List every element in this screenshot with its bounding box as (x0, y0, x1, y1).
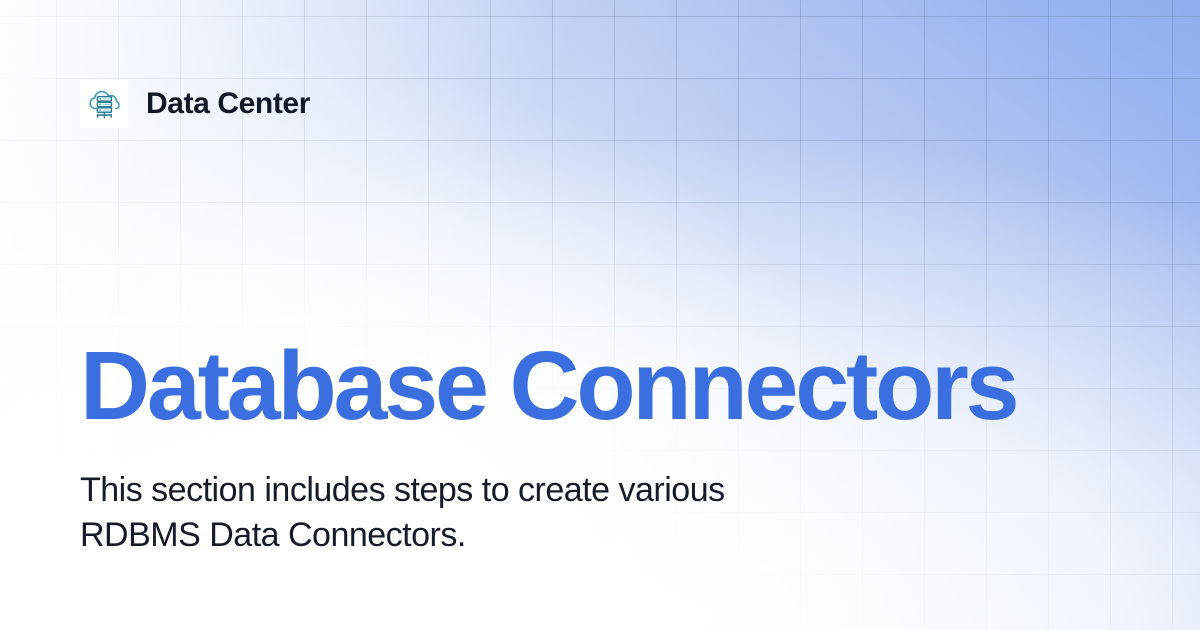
brand-name-label: Data Center (146, 89, 310, 119)
hero-banner: Data Center Database Connectors This sec… (0, 0, 1200, 630)
subtitle-line-1: This section includes steps to create va… (80, 471, 725, 509)
brand-logo-badge (80, 80, 128, 128)
subtitle-line-2: RDBMS Data Connectors. (80, 516, 466, 554)
banner-content: Data Center Database Connectors This sec… (0, 0, 1200, 630)
brand-lockup: Data Center (80, 80, 310, 128)
page-title: Database Connectors (80, 337, 1016, 434)
page-subtitle: This section includes steps to create va… (80, 468, 900, 558)
cloud-server-icon (84, 84, 124, 124)
